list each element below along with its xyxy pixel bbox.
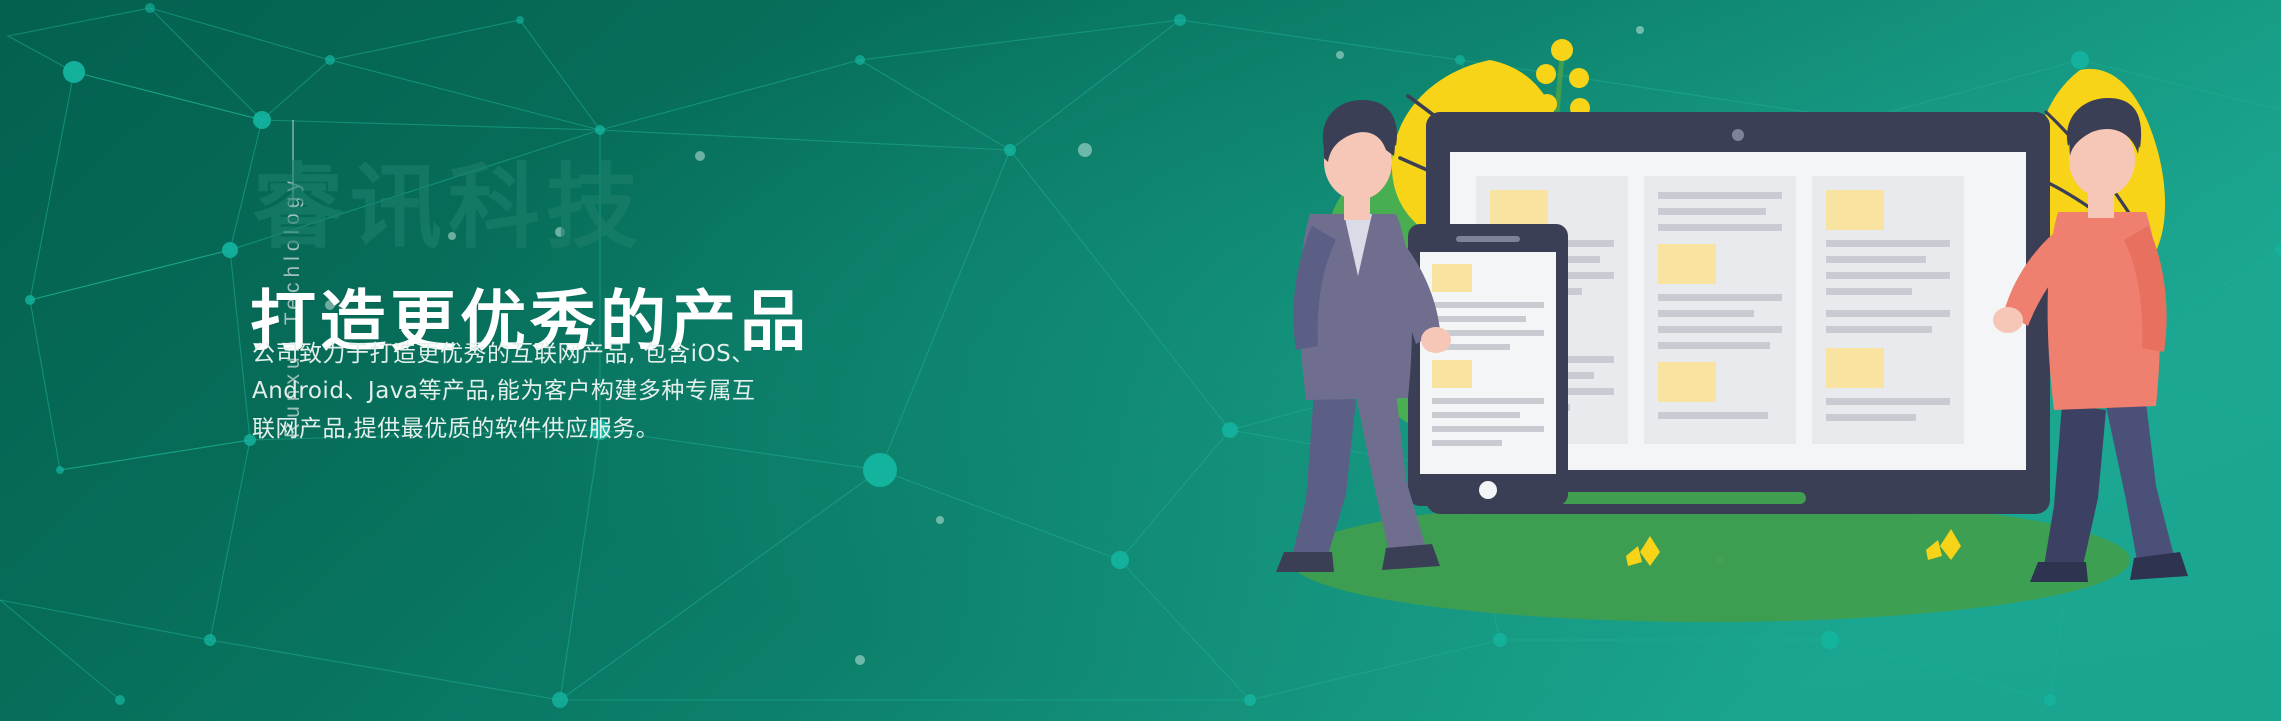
description-line-2: Android、Java等产品,能为客户构建多种专属互	[252, 373, 892, 410]
description-line-1: 公司致力于打造更优秀的互联网产品, 包含iOS、	[252, 336, 892, 373]
hero-illustration	[1240, 0, 2281, 721]
tablet	[1408, 224, 1568, 506]
description-line-3: 联网产品,提供最优质的软件供应服务。	[252, 411, 892, 448]
hero-banner: Runxun Techlology 睿讯科技 打造更优秀的产品 公司致力于打造更…	[0, 0, 2281, 721]
brand-watermark: 睿讯科技	[252, 133, 644, 266]
description-paragraph: 公司致力于打造更优秀的互联网产品, 包含iOS、 Android、Java等产品…	[252, 336, 892, 448]
